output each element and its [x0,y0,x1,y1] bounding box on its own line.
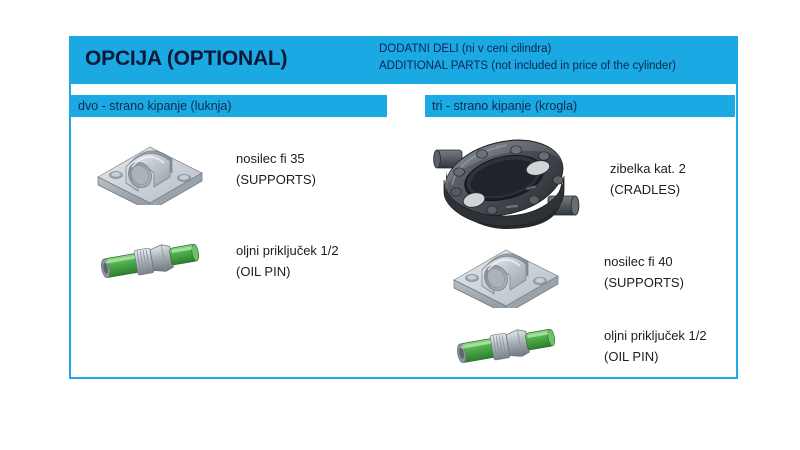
list-item-text: oljni priključek 1/2 (OIL PIN) [236,240,339,282]
pillow-block-bearing-icon [92,133,208,205]
item-name-en: (OIL PIN) [236,261,339,282]
item-name-en: (OIL PIN) [604,346,707,367]
item-name-en: (SUPPORTS) [604,272,684,293]
header-subtitle-en: ADDITIONAL PARTS (not included in price … [379,58,729,75]
hydraulic-fitting-icon [92,235,208,287]
list-item: oljni priključek 1/2 (OIL PIN) [92,235,339,287]
list-item: nosilec fi 35 (SUPPORTS) [92,133,316,205]
item-name-sl: nosilec fi 40 [604,254,673,269]
list-item: nosilec fi 40 (SUPPORTS) [448,236,684,308]
column-heading-left-label: dvo - strano kipanje (luknja) [78,99,232,113]
header-subtitle-block: DODATNI DELI (ni v ceni cilindra) ADDITI… [379,41,729,75]
list-item: oljni priključek 1/2 (OIL PIN) [448,320,707,372]
list-item-text: oljni priključek 1/2 (OIL PIN) [604,325,707,367]
page-title: OPCIJA (OPTIONAL) [85,47,287,71]
hydraulic-fitting-icon [448,320,564,372]
header-subtitle-sl: DODATNI DELI (ni v ceni cilindra) [379,41,729,58]
item-name-sl: oljni priključek 1/2 [604,328,707,343]
column-heading-left: dvo - strano kipanje (luknja) [71,95,387,117]
item-name-sl: zibelka kat. 2 [610,161,686,176]
item-name-sl: nosilec fi 35 [236,151,305,166]
pillow-block-bearing-icon [448,236,564,308]
column-heading-right: tri - strano kipanje (krogla) [425,95,735,117]
column-heading-right-label: tri - strano kipanje (krogla) [432,99,577,113]
list-item: zibelka kat. 2 (CRADLES) [430,128,686,230]
slide-canvas: OPCIJA (OPTIONAL) DODATNI DELI (ni v cen… [0,0,800,450]
list-item-text: nosilec fi 40 (SUPPORTS) [604,251,684,293]
list-item-text: zibelka kat. 2 (CRADLES) [610,158,686,200]
list-item-text: nosilec fi 35 (SUPPORTS) [236,148,316,190]
cradle-ring-icon [430,128,582,230]
item-name-en: (SUPPORTS) [236,169,316,190]
header-bar: OPCIJA (OPTIONAL) DODATNI DELI (ni v cen… [69,36,738,84]
item-name-sl: oljni priključek 1/2 [236,243,339,258]
item-name-en: (CRADLES) [610,179,686,200]
